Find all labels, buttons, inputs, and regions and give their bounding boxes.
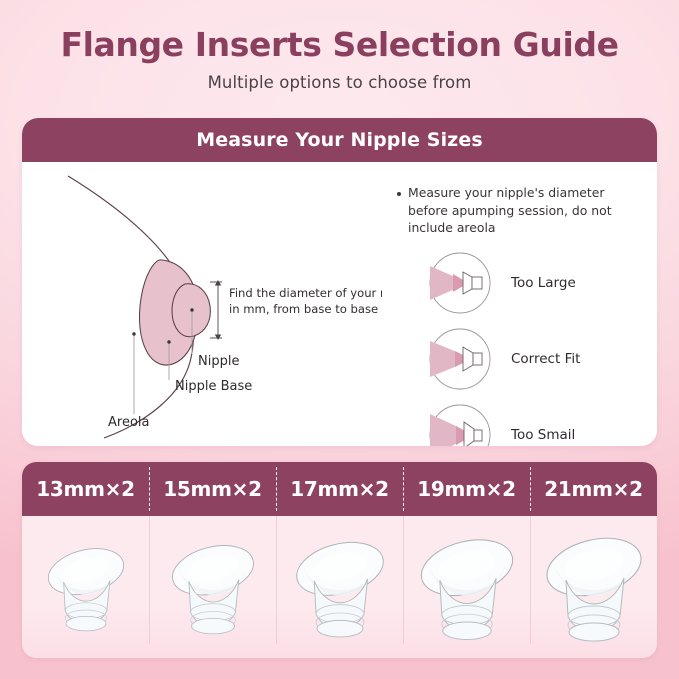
label-areola: Areola — [108, 415, 149, 430]
too-large-diagram-icon — [425, 248, 495, 318]
product-cell-13mm[interactable] — [22, 516, 149, 658]
product-cell-15mm[interactable] — [149, 516, 276, 658]
fit-label-too-large: Too Large — [511, 275, 576, 291]
product-cell-17mm[interactable] — [276, 516, 403, 658]
fit-examples-list: Too Large Correct Fit — [387, 245, 657, 446]
fit-example-too-large: Too Large — [387, 245, 657, 321]
dimension-arrow-down-icon — [215, 335, 221, 341]
size-label-19mm: 19mm×2 — [417, 477, 515, 501]
nipple-anchor-dot — [190, 308, 193, 311]
diameter-callout-line1: Find the diameter of your nipple — [229, 286, 382, 300]
areola-anchor-dot — [132, 332, 135, 335]
page-subtitle: Multiple options to choose from — [0, 73, 679, 92]
flange-insert-product-image-15mm — [155, 520, 271, 658]
measure-instruction-bullet: Measure your nipple's diameter before ap… — [387, 162, 657, 237]
fit-example-too-small: Too Smail — [387, 397, 657, 446]
fit-example-correct-fit: Correct Fit — [387, 321, 657, 397]
flange-insert-product-image-17mm — [282, 520, 398, 658]
flange-insert-product-image-21mm — [536, 520, 652, 658]
label-nipple: Nipple — [198, 354, 239, 369]
measure-card-body: Find the diameter of your nipple in mm, … — [22, 162, 657, 446]
size-header-cell-17mm[interactable]: 17mm×2 — [276, 462, 403, 516]
nipple-base-anchor-dot — [167, 340, 170, 343]
size-label-13mm: 13mm×2 — [36, 477, 134, 501]
fit-label-too-small: Too Smail — [511, 427, 575, 443]
correct-fit-diagram-icon — [425, 324, 495, 394]
size-header-cell-13mm[interactable]: 13mm×2 — [22, 462, 149, 516]
flange-insert-product-image-13mm — [28, 520, 144, 658]
fit-label-correct-fit: Correct Fit — [511, 351, 580, 367]
size-header-cell-21mm[interactable]: 21mm×2 — [530, 462, 657, 516]
page-header: Flange Inserts Selection Guide Multiple … — [0, 0, 679, 92]
flange-insert-product-image-19mm — [409, 520, 525, 658]
diameter-callout-line2: in mm, from base to base — [229, 302, 378, 316]
bullet-point-icon — [397, 192, 401, 196]
size-label-17mm: 17mm×2 — [290, 477, 388, 501]
size-header-cell-15mm[interactable]: 15mm×2 — [149, 462, 276, 516]
product-cell-19mm[interactable] — [403, 516, 530, 658]
label-nipple-base: Nipple Base — [175, 379, 252, 394]
dimension-arrow-up-icon — [215, 280, 221, 286]
measure-nipple-sizes-card: Measure Your Nipple Sizes Find the diame… — [22, 118, 657, 446]
flange-sizes-card: 13mm×2 15mm×2 17mm×2 19mm×2 21mm×2 — [22, 462, 657, 658]
measure-card-header: Measure Your Nipple Sizes — [22, 118, 657, 162]
size-header-cell-19mm[interactable]: 19mm×2 — [403, 462, 530, 516]
size-label-21mm: 21mm×2 — [544, 477, 642, 501]
measure-instruction-text: Measure your nipple's diameter before ap… — [408, 184, 647, 237]
page-title: Flange Inserts Selection Guide — [0, 26, 679, 64]
size-label-15mm: 15mm×2 — [163, 477, 261, 501]
size-product-row — [22, 516, 657, 658]
measure-card-title: Measure Your Nipple Sizes — [196, 129, 482, 151]
too-small-diagram-icon — [425, 400, 495, 446]
fit-guidance-column: Measure your nipple's diameter before ap… — [387, 162, 657, 446]
product-cell-21mm[interactable] — [530, 516, 657, 658]
size-header-row: 13mm×2 15mm×2 17mm×2 19mm×2 21mm×2 — [22, 462, 657, 516]
breast-anatomy-diagram: Find the diameter of your nipple in mm, … — [22, 162, 382, 446]
